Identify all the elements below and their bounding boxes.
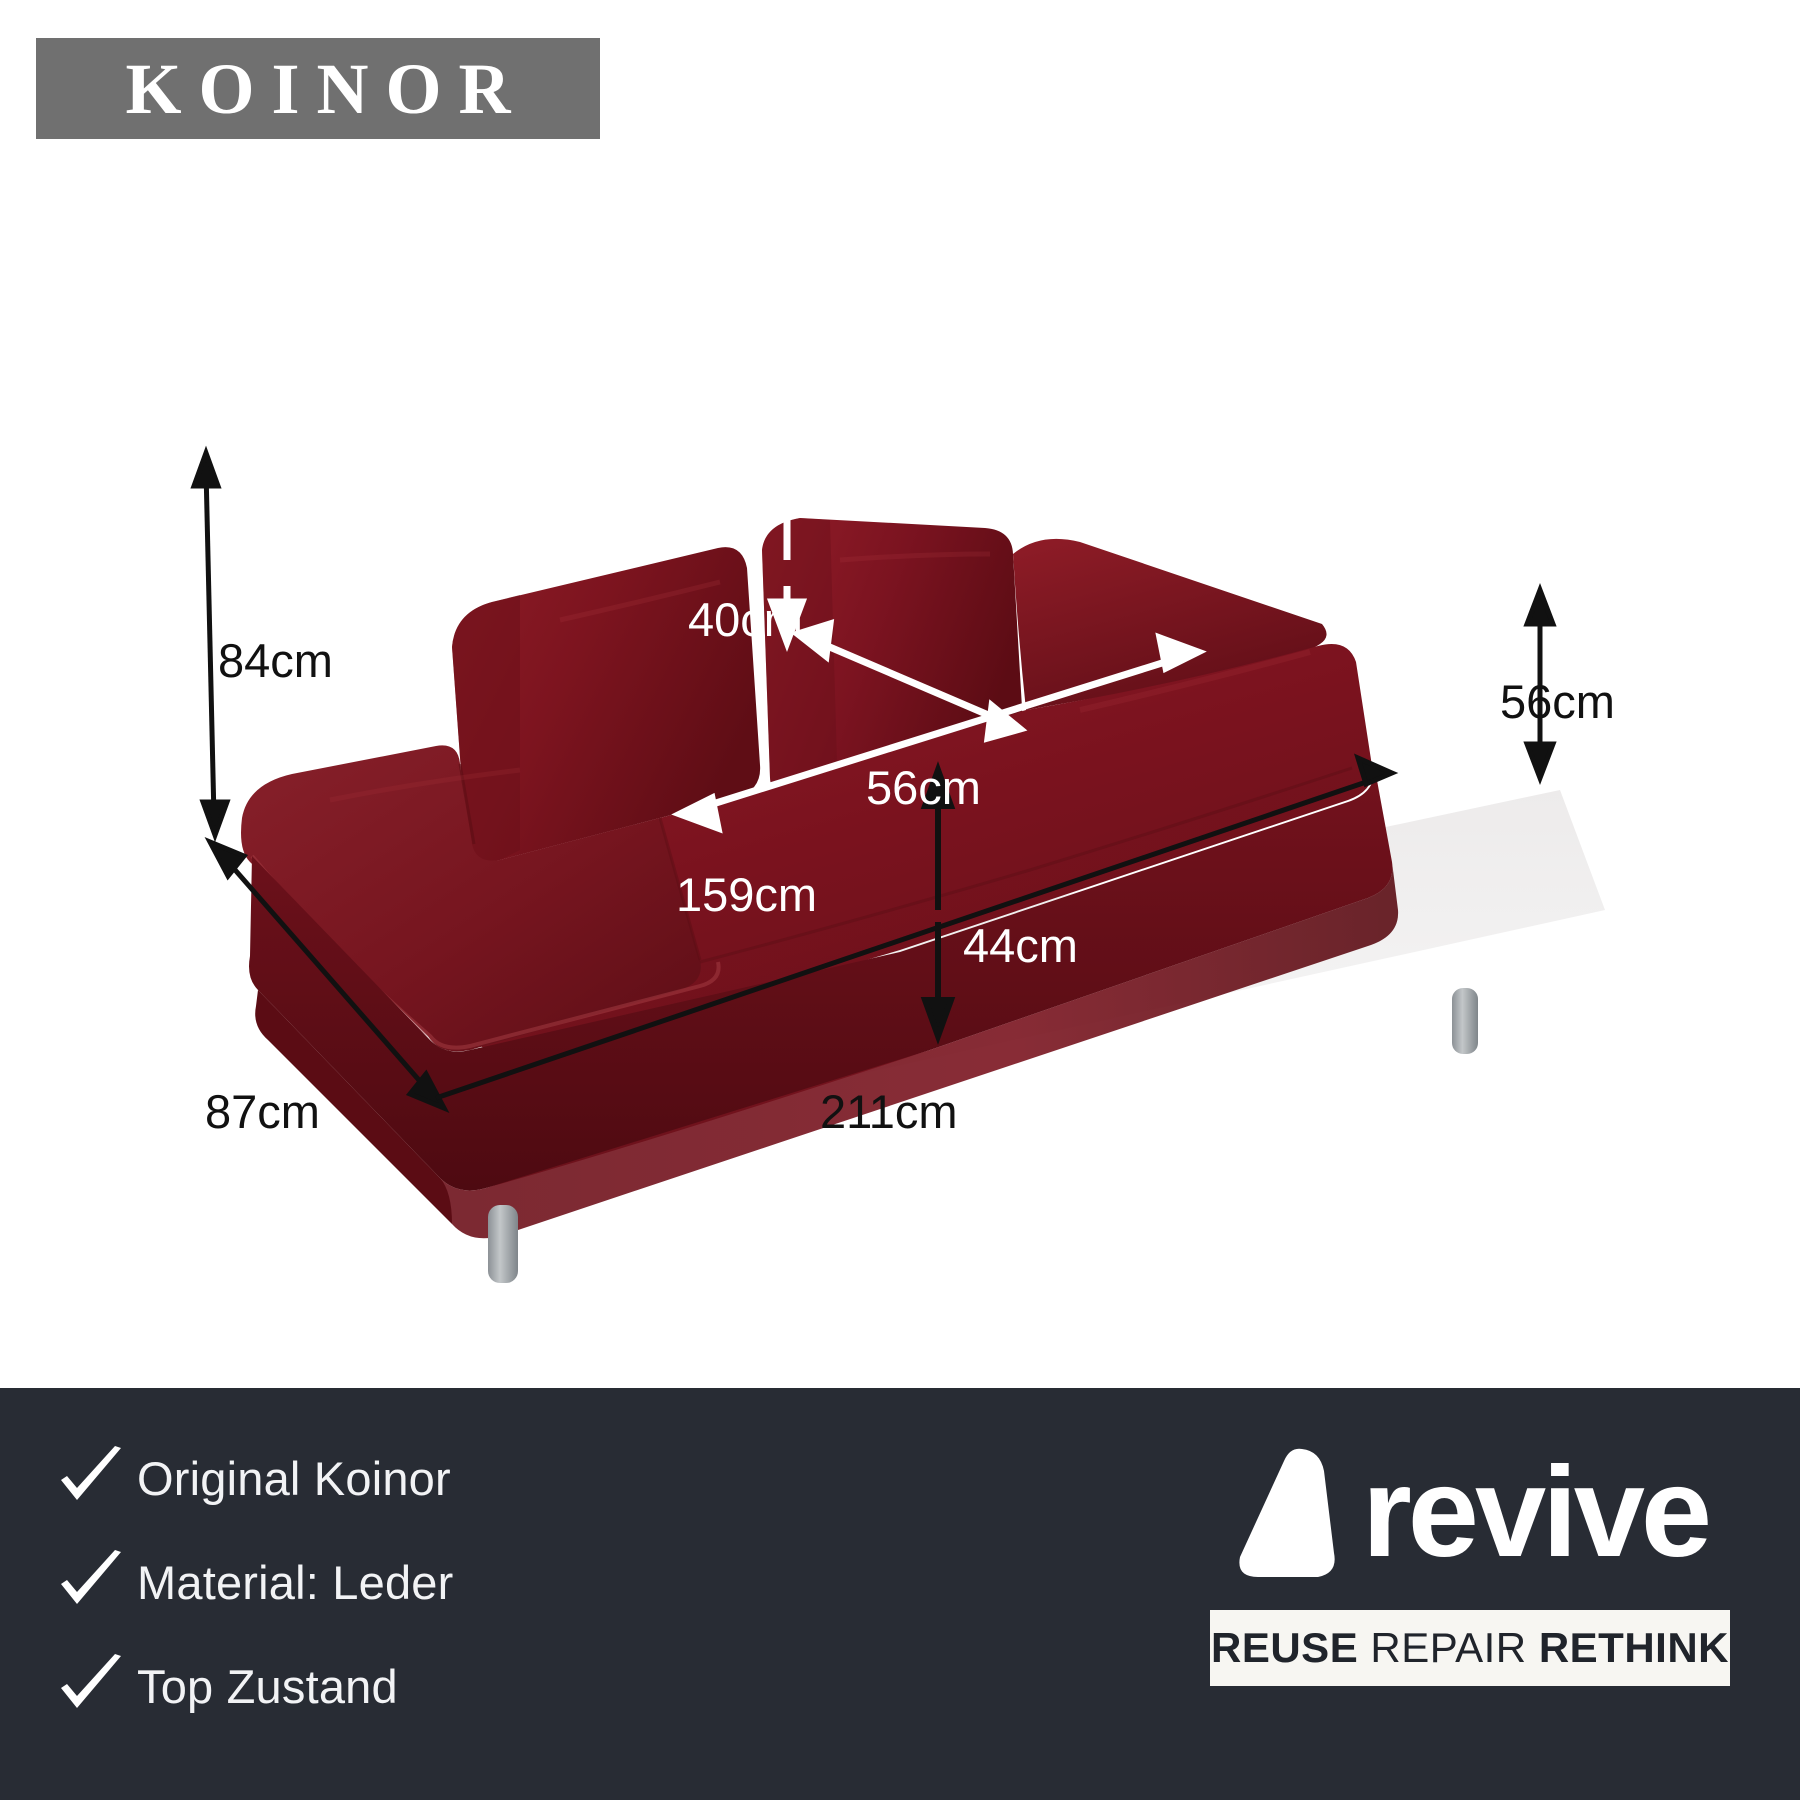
tagline-rethink: RETHINK: [1539, 1624, 1729, 1672]
dimension-label-backrest-height: 40cm: [688, 596, 803, 643]
koinor-logo-text: KOINOR: [108, 53, 527, 125]
dimension-label-seat-depth: 56cm: [866, 764, 981, 811]
check-icon: [45, 1650, 137, 1722]
feature-item: Top Zustand: [45, 1634, 825, 1738]
feature-item: Original Koinor: [45, 1426, 825, 1530]
revive-leaf-icon: [1232, 1445, 1338, 1581]
koinor-logo: KOINOR: [36, 38, 600, 139]
revive-logo: revive REUSE REPAIR RETHINK: [1210, 1438, 1730, 1686]
feature-item: Material: Leder: [45, 1530, 825, 1634]
feature-label: Original Koinor: [137, 1451, 451, 1506]
feature-label: Top Zustand: [137, 1659, 398, 1714]
tagline-reuse: REUSE: [1211, 1624, 1358, 1672]
dimension-label-seat-width: 159cm: [676, 871, 817, 918]
check-icon: [45, 1442, 137, 1514]
sofa-leg-front-left: [488, 1205, 518, 1283]
dimension-label-depth: 87cm: [205, 1088, 320, 1135]
feature-list: Original Koinor Material: Leder Top Zust…: [45, 1426, 825, 1738]
info-banner: Original Koinor Material: Leder Top Zust…: [0, 1388, 1800, 1800]
dimension-label-seat-height: 44cm: [963, 922, 1078, 969]
tagline-repair: REPAIR: [1370, 1624, 1526, 1672]
check-icon: [45, 1546, 137, 1618]
revive-tagline: REUSE REPAIR RETHINK: [1210, 1610, 1730, 1686]
feature-label: Material: Leder: [137, 1555, 454, 1610]
sofa-leg-right: [1452, 988, 1478, 1054]
product-image-card: KOINOR: [0, 0, 1800, 1800]
dimension-label-height-total: 84cm: [218, 637, 333, 684]
sofa-photo: 84cm 87cm 211cm 56cm 40cm 56cm 159cm 44c…: [0, 150, 1800, 1380]
revive-wordmark: revive: [1362, 1449, 1708, 1577]
dimension-label-armrest-height: 56cm: [1500, 678, 1615, 725]
dimension-label-width-total: 211cm: [820, 1088, 958, 1135]
